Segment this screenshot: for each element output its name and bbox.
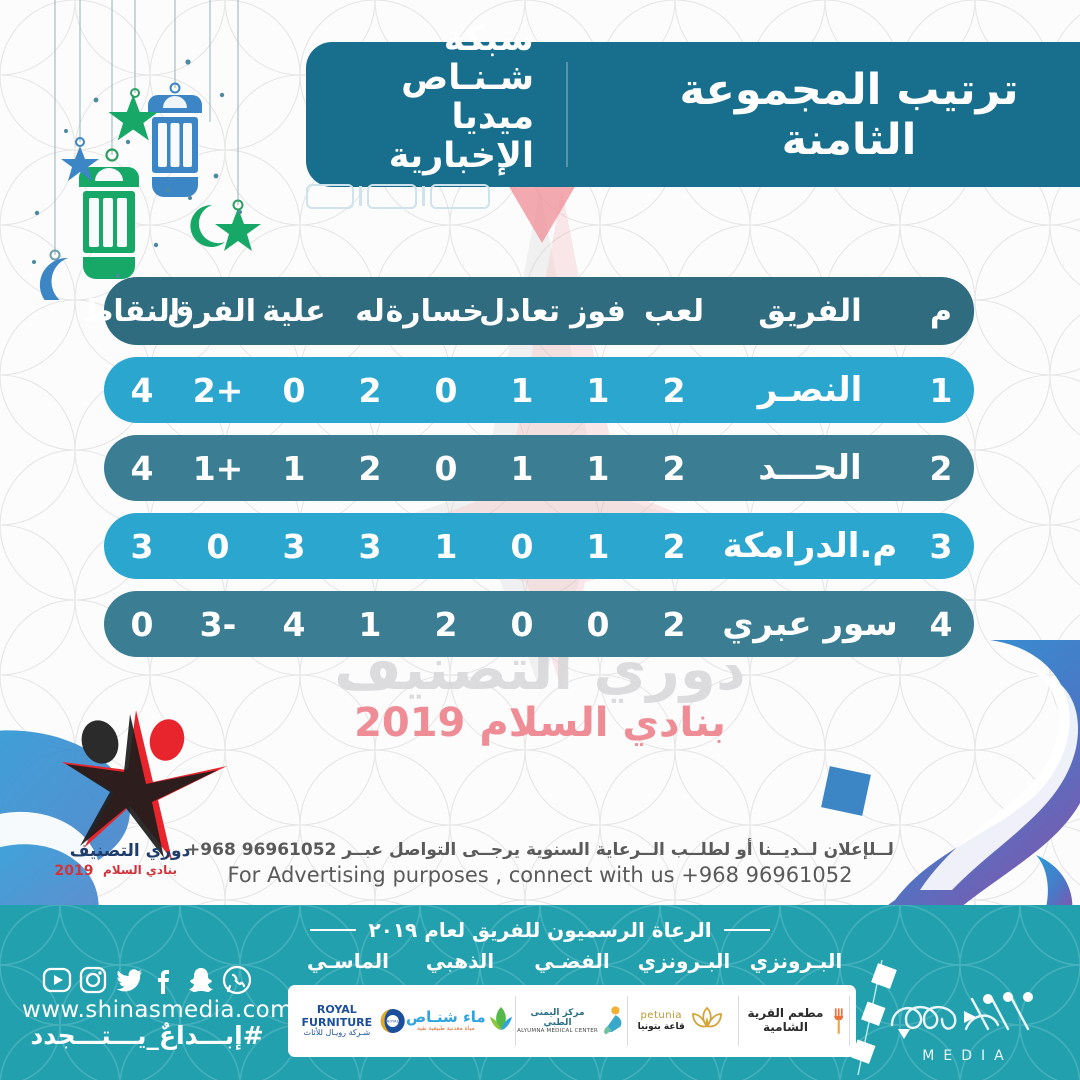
cell-played: 2	[636, 371, 712, 410]
sponsor-maa-shinas[interactable]: ماء شنـاص مياه معدنية طبيعية نقية	[405, 985, 516, 1057]
brand-mark-box-3	[306, 184, 354, 209]
cell-team: سور عبري	[712, 604, 908, 644]
sponsor-petunia[interactable]: petunia قاعة بتونيا	[628, 985, 739, 1057]
cell-no: 4	[908, 605, 974, 644]
whatsapp-icon[interactable]	[222, 965, 252, 995]
decorative-square	[821, 766, 871, 816]
advertising-block: لــلإعلان لــديــنا أو لطلــب الــرعاية …	[0, 840, 1080, 887]
table-row[interactable]: 3 م.الدرامكة 2 1 0 1 3 3 0 3	[104, 513, 974, 579]
column-header-loss: خسارة	[408, 294, 484, 329]
sponsor-shamiya-restaurant[interactable]: مطعم القرية الشامية	[739, 985, 850, 1057]
sponsor-royal-furniture[interactable]: ROYAL ROYAL FURNITURE شـركة رويـال للأثا…	[294, 985, 405, 1057]
brand-line-1: شبكة شـنـاص	[306, 20, 534, 98]
cell-for: 2	[332, 449, 408, 488]
sponsor-alyumna-medical[interactable]: مركز اليمنى الطبي ALYUMNA MEDICAL CENTER	[516, 985, 627, 1057]
sponsor-shamiya-text: مطعم القرية الشامية	[739, 1007, 832, 1035]
table-row[interactable]: 1 النصـر 2 1 1 0 2 0 +2 4	[104, 357, 974, 423]
cell-no: 1	[908, 371, 974, 410]
cell-loss: 0	[408, 449, 484, 488]
sponsor-logo-strip: ROYAL ROYAL FURNITURE شـركة رويـال للأثا…	[288, 985, 856, 1057]
sponsor-shamiya-name-ar: مطعم القرية الشامية	[739, 1007, 832, 1035]
cell-diff: 0	[180, 527, 256, 566]
sponsor-maa-text: ماء شنـاص مياه معدنية طبيعية نقية	[406, 1010, 486, 1032]
cell-played: 2	[636, 527, 712, 566]
social-block: www.shinasmedia.com #إبـــداعٌ_يـــتـــج…	[22, 965, 272, 1050]
tier-label-diamond: الماسـي	[292, 949, 404, 973]
standings-table: م الفريق لعب فوز تعادل خسارة له علية الف…	[104, 277, 974, 669]
cell-no: 3	[908, 527, 974, 566]
sponsor-royal-text: ROYAL FURNITURE شـركة رويـال للأثاث	[294, 1004, 380, 1038]
cell-points: 3	[104, 527, 180, 566]
snapchat-icon[interactable]	[186, 965, 216, 995]
brand-mark-box-1	[430, 184, 490, 209]
medical-figure-icon	[599, 1004, 628, 1038]
brand-block: شبكة شـنـاص ميديا الإخبارية	[306, 20, 562, 210]
cell-win: 1	[560, 527, 636, 566]
instagram-icon[interactable]	[78, 965, 108, 995]
sponsor-alyumna-text: مركز اليمنى الطبي ALYUMNA MEDICAL CENTER	[516, 1008, 598, 1034]
brand-line-2: ميديا الإخبارية	[306, 98, 534, 176]
brand-logo-mark	[306, 183, 490, 209]
lantern-decoration	[0, 0, 330, 300]
header-bar: شبكة شـنـاص ميديا الإخبارية ترتيب المجمو…	[306, 42, 1080, 187]
sponsor-petunia-text: petunia قاعة بتونيا	[638, 1010, 685, 1031]
cell-team: النصـر	[712, 370, 908, 410]
cell-points: 4	[104, 371, 180, 410]
column-header-draw: تعادل	[484, 294, 560, 329]
sponsors-heading: الرعاة الرسميون للفريق لعام ٢٠١٩	[368, 918, 711, 942]
column-header-for: له	[332, 294, 408, 329]
cell-for: 2	[332, 371, 408, 410]
column-header-against: علية	[256, 294, 332, 329]
table-row[interactable]: 4 سور عبري 2 0 0 2 1 4 -3 0	[104, 591, 974, 657]
sponsor-maa-tagline: مياه معدنية طبيعية نقية	[406, 1026, 486, 1033]
brand-mark-bar-2	[359, 186, 362, 206]
cell-loss: 0	[408, 371, 484, 410]
sponsor-alyumna-name-en: ALYUMNA MEDICAL CENTER	[516, 1028, 598, 1034]
sponsor-petunia-name-en: petunia	[638, 1010, 685, 1021]
sponsor-maa-name-ar: ماء شنـاص	[406, 1010, 486, 1026]
table-header-row: م الفريق لعب فوز تعادل خسارة له علية الف…	[104, 277, 974, 345]
heading-rule-right	[310, 929, 356, 931]
brand-mark-bar-1	[422, 186, 425, 206]
cell-no: 2	[908, 449, 974, 488]
ads-arabic-text: لــلإعلان لــديــنا أو لطلــب الــرعاية …	[0, 840, 1080, 860]
ads-english-text: For Advertising purposes , connect with …	[0, 863, 1080, 887]
brand-mark-box-2	[367, 184, 417, 209]
column-header-points: النقاط	[104, 294, 180, 329]
cell-draw: 0	[484, 527, 560, 566]
leaf-icon	[486, 1005, 516, 1037]
royal-furniture-icon: ROYAL	[380, 1004, 405, 1038]
tier-label-bronze-2: البـرونزي	[740, 949, 852, 973]
cell-diff: -3	[180, 605, 256, 644]
sponsor-tiers: الماسـي الذهبي الفضـي البـرونزي البـرونز…	[292, 949, 852, 973]
cell-points: 0	[104, 605, 180, 644]
cell-loss: 1	[408, 527, 484, 566]
cell-for: 1	[332, 605, 408, 644]
sponsors-heading-row: الرعاة الرسميون للفريق لعام ٢٠١٩	[0, 918, 1080, 942]
sponsor-petunia-name-ar: قاعة بتونيا	[638, 1022, 685, 1032]
shinas-media-wordmark	[880, 985, 1055, 1043]
column-header-team: الفريق	[712, 293, 908, 329]
hashtag-slogan: #إبـــداعٌ_يـــتـــجدد	[22, 1021, 272, 1050]
cell-diff: +2	[180, 371, 256, 410]
sponsor-royal-name-en: ROYAL FURNITURE	[294, 1004, 380, 1029]
social-icon-row	[22, 965, 272, 995]
cell-for: 3	[332, 527, 408, 566]
poster-canvas: دوري التصنيف	[0, 0, 1080, 1080]
cell-team: م.الدرامكة	[712, 526, 908, 566]
website-url[interactable]: www.shinasmedia.com	[22, 997, 272, 1023]
cell-played: 2	[636, 449, 712, 488]
cell-win: 1	[560, 449, 636, 488]
page-title: ترتيب المجموعة الثامنة	[578, 65, 1080, 165]
column-header-diff: الفرق	[180, 294, 256, 329]
cell-played: 2	[636, 605, 712, 644]
cell-team: الحـــد	[712, 448, 908, 488]
twitter-icon[interactable]	[114, 965, 144, 995]
cell-against: 4	[256, 605, 332, 644]
media-logo: MEDIA	[880, 985, 1055, 1063]
youtube-icon[interactable]	[42, 965, 72, 995]
cell-win: 0	[560, 605, 636, 644]
cell-draw: 1	[484, 371, 560, 410]
tier-label-silver: الفضـي	[516, 949, 628, 973]
cell-diff: +1	[180, 449, 256, 488]
cell-draw: 0	[484, 605, 560, 644]
cell-against: 0	[256, 371, 332, 410]
column-header-played: لعب	[636, 294, 712, 329]
cell-against: 3	[256, 527, 332, 566]
media-wordmark-text: MEDIA	[880, 1048, 1055, 1064]
sponsor-alyumna-name-ar: مركز اليمنى الطبي	[516, 1008, 598, 1028]
heading-rule-left	[724, 929, 770, 931]
cell-loss: 2	[408, 605, 484, 644]
svg-text:ROYAL: ROYAL	[386, 1019, 399, 1023]
cell-against: 1	[256, 449, 332, 488]
cell-points: 4	[104, 449, 180, 488]
facebook-icon[interactable]	[150, 965, 180, 995]
tier-label-bronze-1: البـرونزي	[628, 949, 740, 973]
petunia-flower-icon	[685, 1004, 729, 1038]
tier-label-gold: الذهبي	[404, 949, 516, 973]
cell-draw: 1	[484, 449, 560, 488]
cell-win: 1	[560, 371, 636, 410]
column-header-win: فوز	[560, 294, 636, 329]
sponsor-royal-name-ar: شـركة رويـال للأثاث	[294, 1029, 380, 1038]
column-header-no: م	[908, 294, 974, 329]
header-divider	[566, 62, 568, 167]
table-row[interactable]: 2 الحـــد 2 1 1 0 2 1 +1 4	[104, 435, 974, 501]
